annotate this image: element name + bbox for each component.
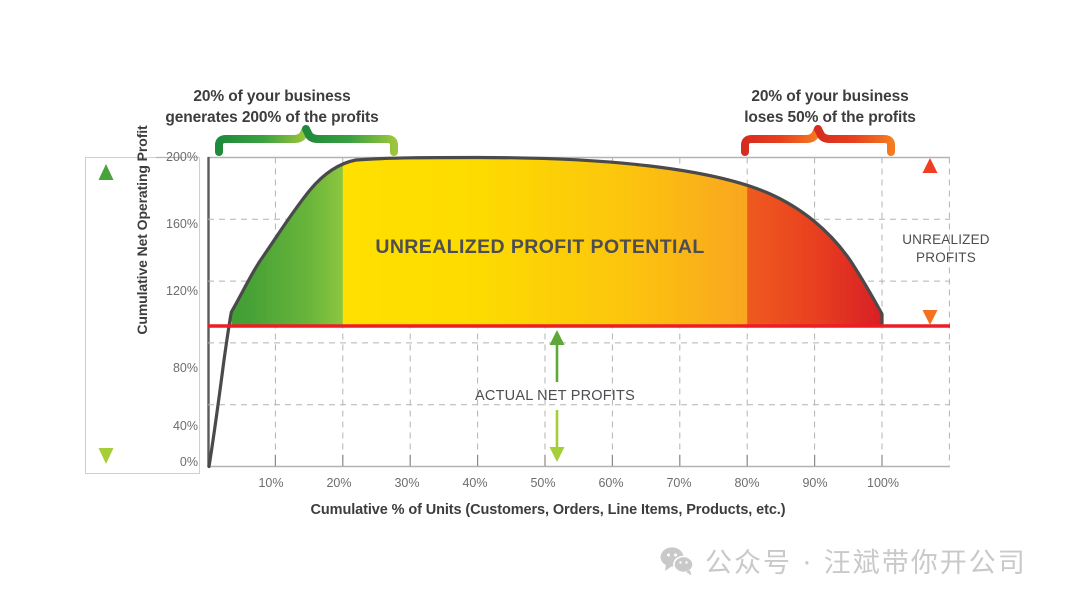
- left-annotation-line1: 20% of your business: [150, 86, 394, 107]
- wechat-icon: [660, 546, 694, 576]
- x-tick-label: 60%: [585, 476, 637, 490]
- x-tick-label: 80%: [721, 476, 773, 490]
- y-tick-label: 120%: [152, 284, 198, 298]
- right-brace-icon: [745, 129, 891, 152]
- right-annotation-line2: loses 50% of the profits: [700, 107, 960, 128]
- y-range-arrow-icon: [99, 164, 114, 464]
- watermark: 公众号 · 汪斌带你开公司: [660, 541, 1027, 580]
- unrealized-profits-line2: PROFITS: [880, 249, 1012, 267]
- y-axis-title: Cumulative Net Operating Profit: [134, 80, 150, 380]
- x-tick-label: 100%: [857, 476, 909, 490]
- x-tick-label: 90%: [789, 476, 841, 490]
- x-tick-label: 50%: [517, 476, 569, 490]
- unrealized-profits-label: UNREALIZED PROFITS: [880, 231, 1012, 267]
- x-tick-label: 40%: [449, 476, 501, 490]
- y-tick-label: 80%: [152, 361, 198, 375]
- x-tick-label: 20%: [313, 476, 365, 490]
- y-tick-label: 40%: [152, 419, 198, 433]
- watermark-text: 公众号 · 汪斌带你开公司: [705, 541, 1027, 580]
- x-tick-label: 10%: [245, 476, 297, 490]
- unrealized-profits-line1: UNREALIZED: [880, 231, 1012, 249]
- y-tick-label: 0%: [152, 455, 198, 469]
- left-brace-icon: [219, 129, 394, 152]
- x-axis-title: Cumulative % of Units (Customers, Orders…: [208, 502, 888, 518]
- x-axis-ticks: [275, 455, 882, 466]
- right-annotation-line1: 20% of your business: [700, 86, 960, 107]
- y-tick-label: 200%: [152, 150, 198, 164]
- y-tick-label: 160%: [152, 217, 198, 231]
- unrealized-profit-potential-label: UNREALIZED PROFIT POTENTIAL: [330, 236, 750, 259]
- chart-canvas: 20% of your business generates 200% of t…: [0, 0, 1080, 608]
- actual-net-profits-label: ACTUAL NET PROFITS: [430, 388, 680, 404]
- left-annotation-line2: generates 200% of the profits: [150, 107, 394, 128]
- x-tick-label: 30%: [381, 476, 433, 490]
- left-brace-annotation: 20% of your business generates 200% of t…: [150, 86, 394, 128]
- x-tick-label: 70%: [653, 476, 705, 490]
- right-brace-annotation: 20% of your business loses 50% of the pr…: [700, 86, 960, 128]
